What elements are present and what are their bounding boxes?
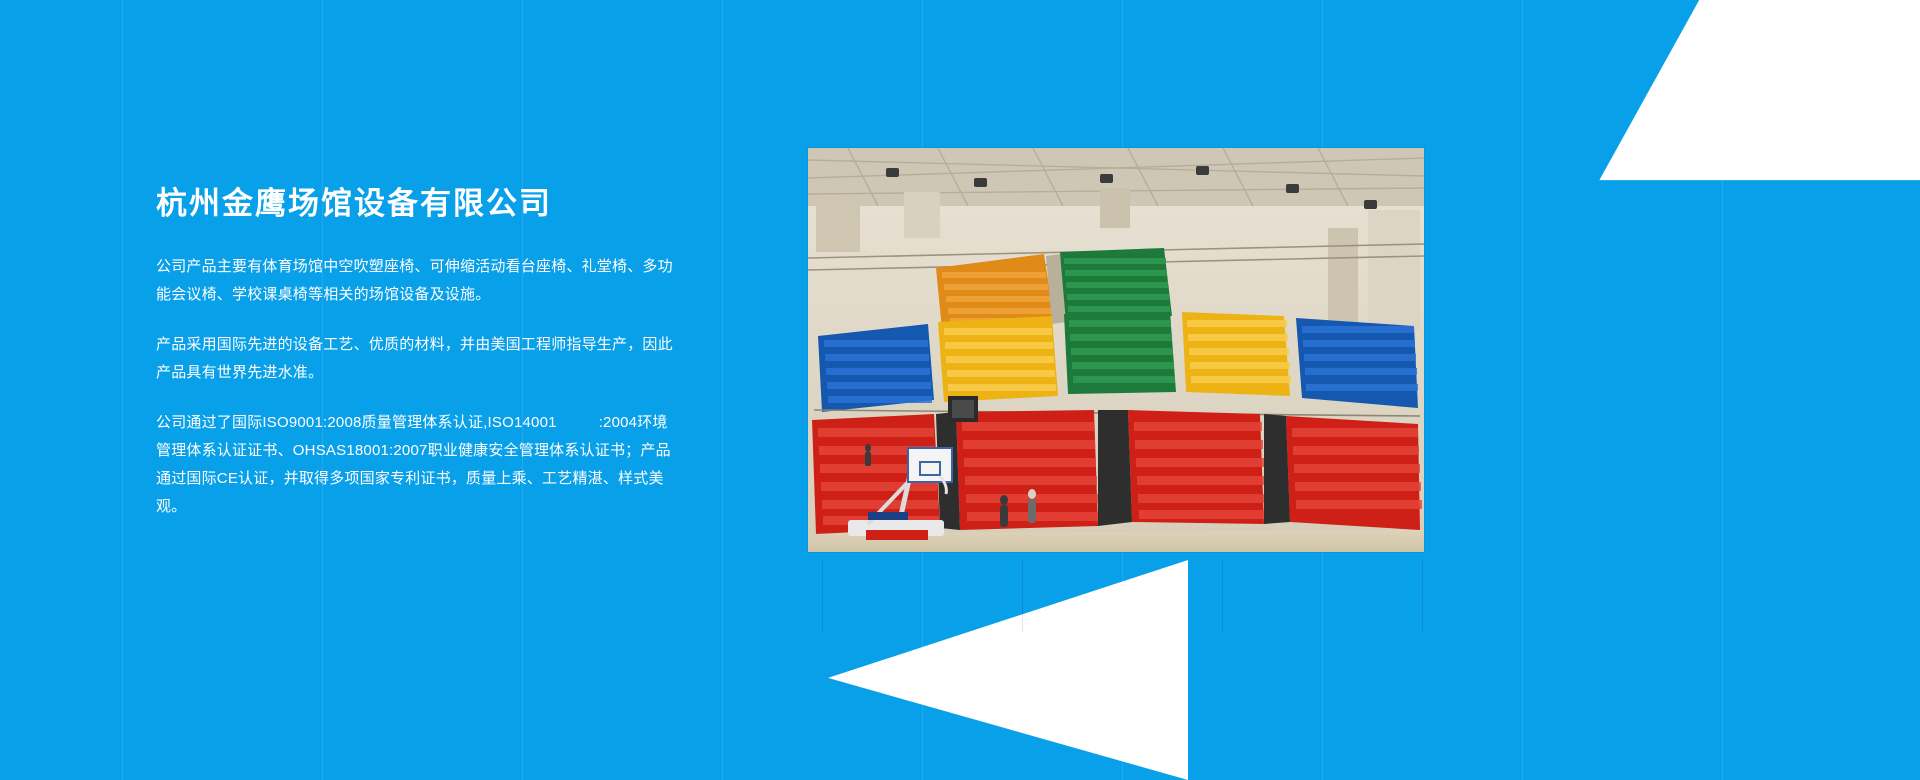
certification-text-part1: 公司通过了国际ISO9001:2008质量管理体系认证,ISO14001 xyxy=(156,414,557,431)
manufacturing-quality-paragraph: 产品采用国际先进的设备工艺、优质的材料，并由美国工程师指导生产，因此产品具有世界… xyxy=(156,331,676,387)
certification-paragraph: 公司通过了国际ISO9001:2008质量管理体系认证,ISO14001:200… xyxy=(156,409,676,521)
company-headline: 杭州金鹰场馆设备有限公司 xyxy=(156,186,676,223)
venue-photo xyxy=(808,148,1424,552)
bottom-divider-strip xyxy=(808,560,1424,632)
hero-text-block: 杭州金鹰场馆设备有限公司 公司产品主要有体育场馆中空吹塑座椅、可伸缩活动看台座椅… xyxy=(156,186,676,521)
venue-photo-illustration xyxy=(808,148,1424,552)
product-overview-paragraph: 公司产品主要有体育场馆中空吹塑座椅、可伸缩活动看台座椅、礼堂椅、多功能会议椅、学… xyxy=(156,253,676,309)
hero-banner: 杭州金鹰场馆设备有限公司 公司产品主要有体育场馆中空吹塑座椅、可伸缩活动看台座椅… xyxy=(0,0,1920,780)
